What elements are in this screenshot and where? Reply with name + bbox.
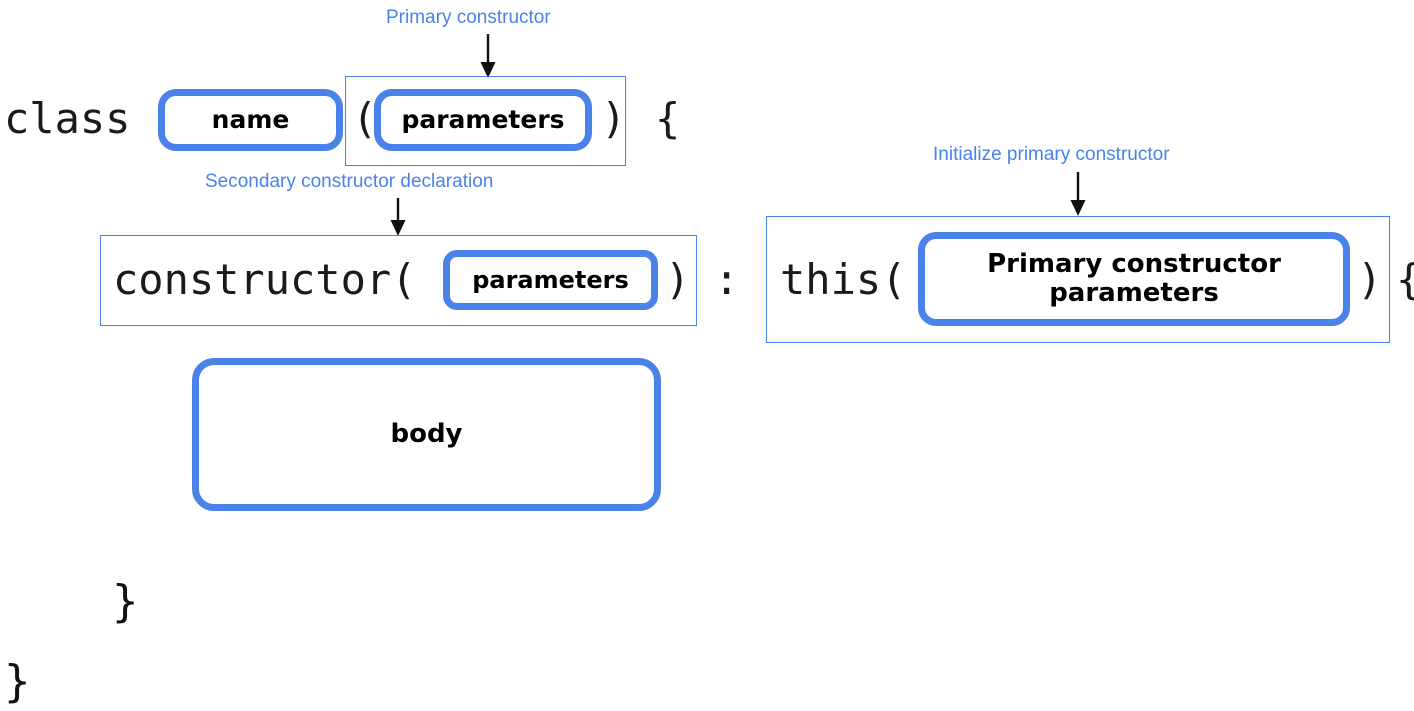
slot-primary-constructor-parameters-label: Primary constructor parameters bbox=[987, 250, 1281, 308]
code-close-paren-this: ) bbox=[1357, 259, 1382, 301]
annotation-initialize-primary-constructor: Initialize primary constructor bbox=[933, 145, 1170, 164]
code-constructor-keyword: constructor( bbox=[113, 259, 416, 301]
code-close-paren-primary: ) bbox=[601, 98, 626, 140]
code-close-paren-secondary: ) bbox=[665, 259, 690, 301]
slot-primary-parameters: parameters bbox=[374, 89, 592, 151]
code-class-keyword: class bbox=[4, 98, 130, 140]
slot-class-body: body bbox=[192, 358, 661, 511]
slot-class-name: name bbox=[158, 89, 343, 151]
slot-class-name-label: name bbox=[212, 106, 290, 134]
arrow-secondary-constructor bbox=[382, 198, 414, 238]
slot-secondary-parameters-label: parameters bbox=[472, 267, 629, 294]
code-colon-delegation: : bbox=[714, 259, 739, 301]
code-close-brace-class: } bbox=[4, 660, 31, 704]
annotation-secondary-constructor-declaration: Secondary constructor declaration bbox=[205, 172, 493, 191]
slot-class-body-label: body bbox=[390, 420, 462, 449]
slot-primary-constructor-parameters: Primary constructor parameters bbox=[918, 232, 1350, 326]
code-open-brace-class: { bbox=[655, 98, 680, 140]
code-close-brace-secondary-constructor: } bbox=[112, 580, 139, 624]
arrow-initialize-primary-constructor bbox=[1062, 172, 1094, 218]
annotation-primary-constructor: Primary constructor bbox=[386, 8, 551, 27]
slot-primary-parameters-label: parameters bbox=[401, 106, 564, 134]
code-this-keyword: this( bbox=[780, 259, 906, 301]
arrow-primary-constructor bbox=[472, 32, 504, 80]
code-open-brace-secondary: { bbox=[1396, 259, 1414, 301]
slot-secondary-parameters: parameters bbox=[443, 250, 658, 310]
diagram-canvas: Primary constructor class name ( paramet… bbox=[0, 0, 1414, 711]
